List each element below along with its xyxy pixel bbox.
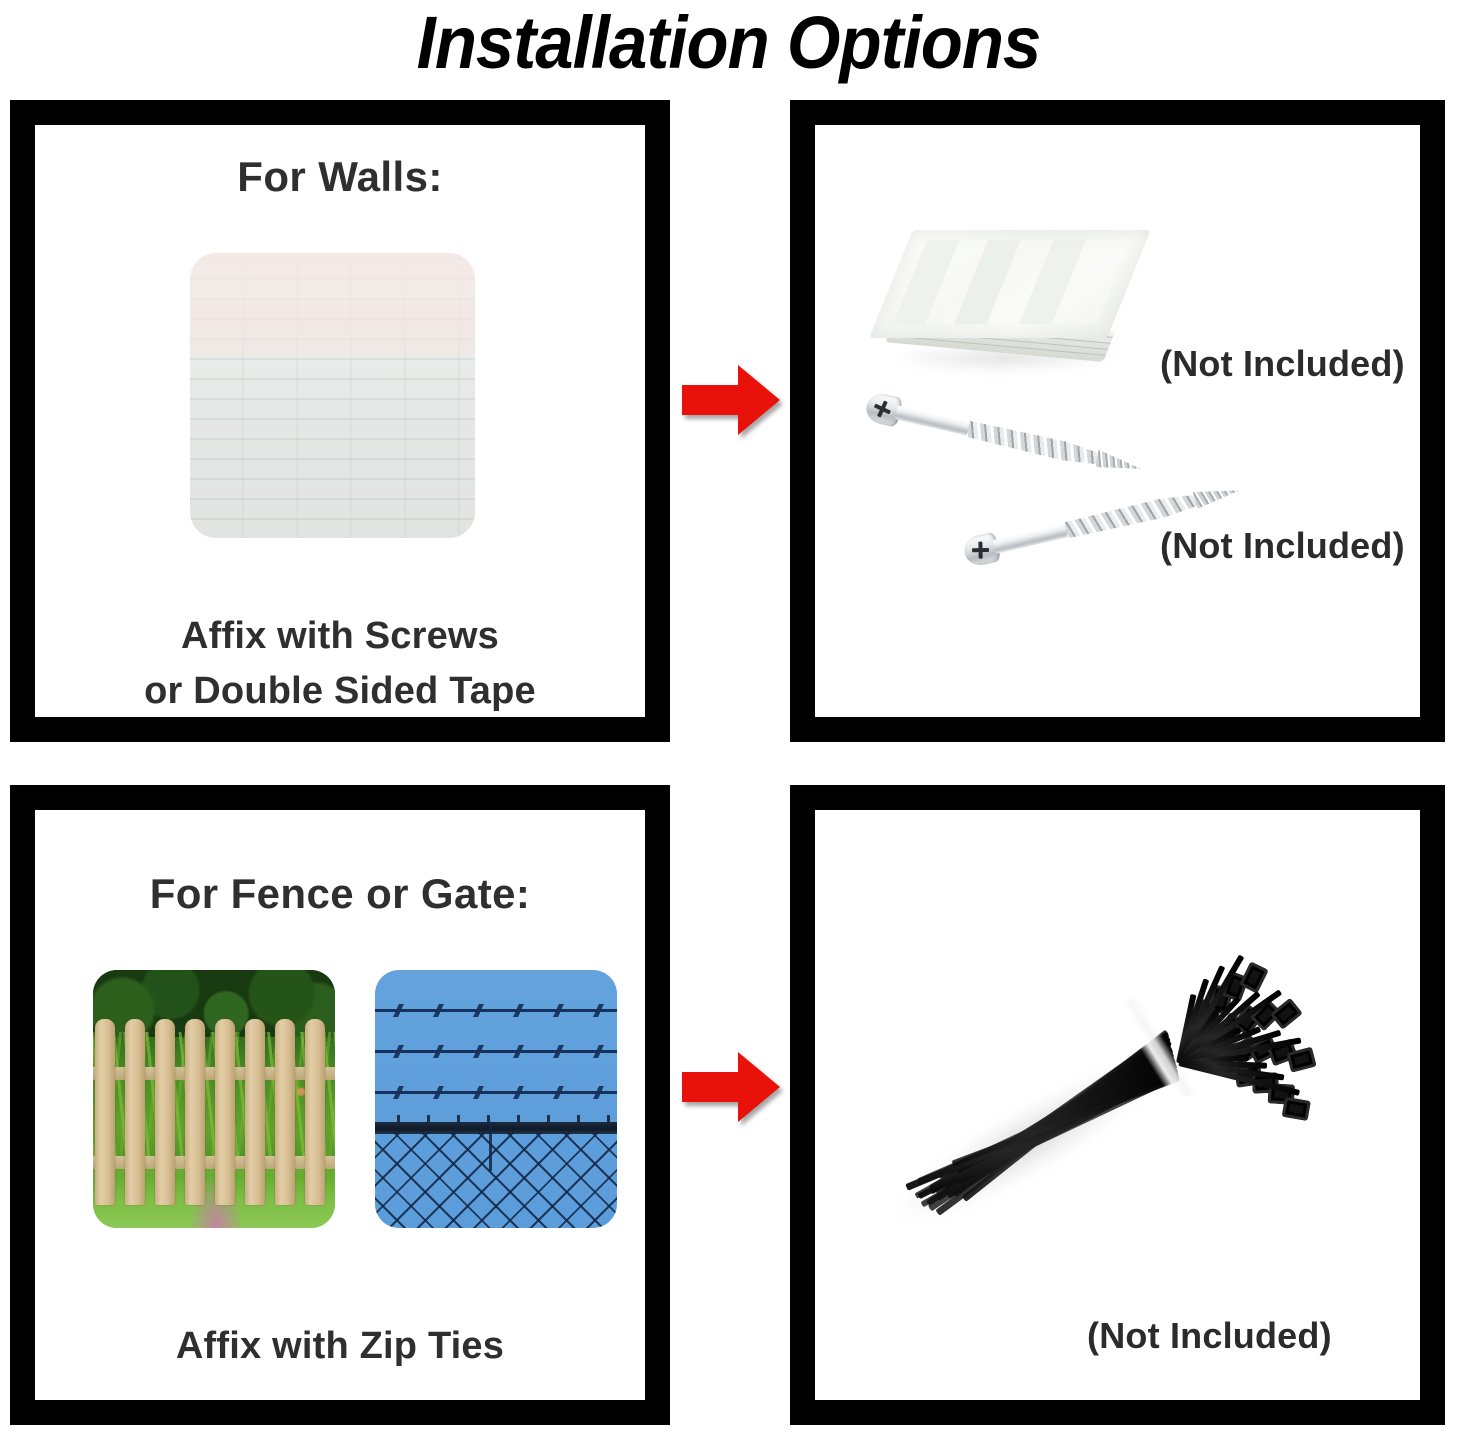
- screw-tip-upper: [1094, 449, 1143, 479]
- panel-zip-ties-content: (Not Included): [815, 810, 1420, 1400]
- red-right-arrow-icon: [682, 363, 780, 437]
- barbed-wire-strand: [375, 1050, 617, 1053]
- panel-wall-hardware-content: (Not Included) (Not Included): [815, 125, 1420, 717]
- brick-top-wash: [190, 253, 475, 356]
- zip-tie-heads: [857, 922, 1337, 1282]
- zip-tie-bundle-photo: [857, 922, 1337, 1282]
- caption-double-sided-tape: or Double Sided Tape: [35, 670, 645, 713]
- page-title: Installation Options: [51, 0, 1406, 92]
- screws-not-included-label: (Not Included): [1160, 525, 1405, 567]
- fence-post: [489, 1122, 492, 1171]
- zip-ties-not-included-label: (Not Included): [1087, 1315, 1332, 1357]
- brick-wall-photo: [190, 253, 475, 538]
- phillips-slot-icon: [971, 541, 989, 559]
- panel-for-fence-or-gate-content: For Fence or Gate:: [35, 810, 645, 1400]
- caption-affix-with-screws: Affix with Screws: [35, 615, 645, 658]
- chain-link-fence-photo: [375, 970, 617, 1228]
- tape-stack-top-face: [869, 230, 1151, 338]
- panel-zip-ties: (Not Included): [790, 785, 1445, 1425]
- panel-wall-hardware: (Not Included) (Not Included): [790, 100, 1445, 742]
- caption-affix-with-zip-ties: Affix with Zip Ties: [35, 1325, 645, 1368]
- double-sided-tape-stack-photo: [885, 230, 1135, 380]
- tape-not-included-label: (Not Included): [1160, 343, 1405, 385]
- barbed-wire-strand: [375, 1091, 617, 1094]
- panel-for-walls-content: For Walls: Affix with Screws or Double S…: [35, 125, 645, 717]
- wood-screw-upper: [864, 393, 1152, 484]
- panel-for-fence-or-gate: For Fence or Gate:: [10, 785, 670, 1425]
- chain-link-mesh: [375, 1130, 617, 1228]
- panel-heading-for-walls: For Walls:: [35, 153, 645, 201]
- screw-shank-upper: [894, 405, 973, 436]
- fence-pickets: [93, 1019, 335, 1205]
- screw-shank-lower: [993, 523, 1072, 554]
- phillips-slot-icon: [870, 397, 894, 421]
- zip-tie-head: [1281, 1096, 1310, 1120]
- panel-heading-for-fence-or-gate: For Fence or Gate:: [35, 870, 645, 918]
- red-right-arrow-icon: [682, 1050, 780, 1124]
- screw-tip-lower: [1193, 481, 1242, 511]
- zip-tie-head: [1270, 997, 1303, 1029]
- panel-for-walls: For Walls: Affix with Screws or Double S…: [10, 100, 670, 742]
- barbed-wire-strand: [375, 1009, 617, 1012]
- wooden-picket-fence-photo: [93, 970, 335, 1228]
